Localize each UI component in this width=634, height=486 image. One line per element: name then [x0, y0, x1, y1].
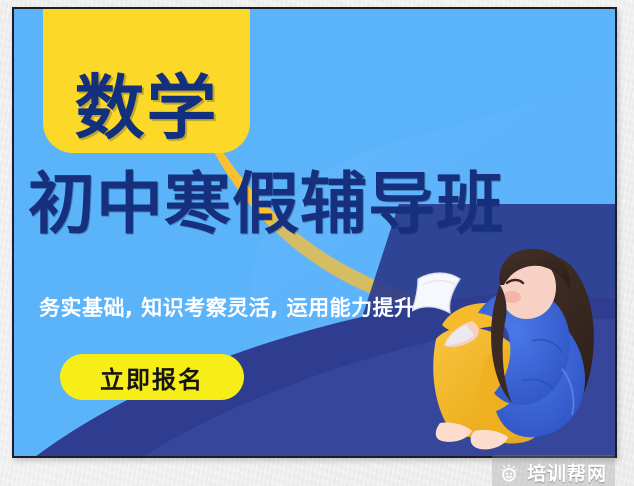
subject-badge-label: 数学 — [75, 73, 219, 143]
enroll-now-button-label: 立即报名 — [100, 360, 204, 395]
enroll-now-button[interactable]: 立即报名 — [60, 354, 244, 400]
smiley-sun-icon — [498, 461, 520, 483]
poster-frame: 数学 初中寒假辅导班 务实基础, 知识考察灵活, 运用能力提升 立即报名 — [12, 7, 617, 458]
poster-subtitle: 务实基础, 知识考察灵活, 运用能力提升 — [39, 292, 416, 322]
girl-reading-illustration — [412, 241, 617, 458]
page-canvas: 数学 初中寒假辅导班 务实基础, 知识考察灵活, 运用能力提升 立即报名 — [0, 0, 634, 486]
watermark-text: 培训帮网 — [527, 459, 607, 486]
poster-headline: 初中寒假辅导班 — [28, 169, 617, 239]
subject-badge: 数学 — [43, 7, 250, 153]
watermark: 培训帮网 — [492, 455, 615, 486]
